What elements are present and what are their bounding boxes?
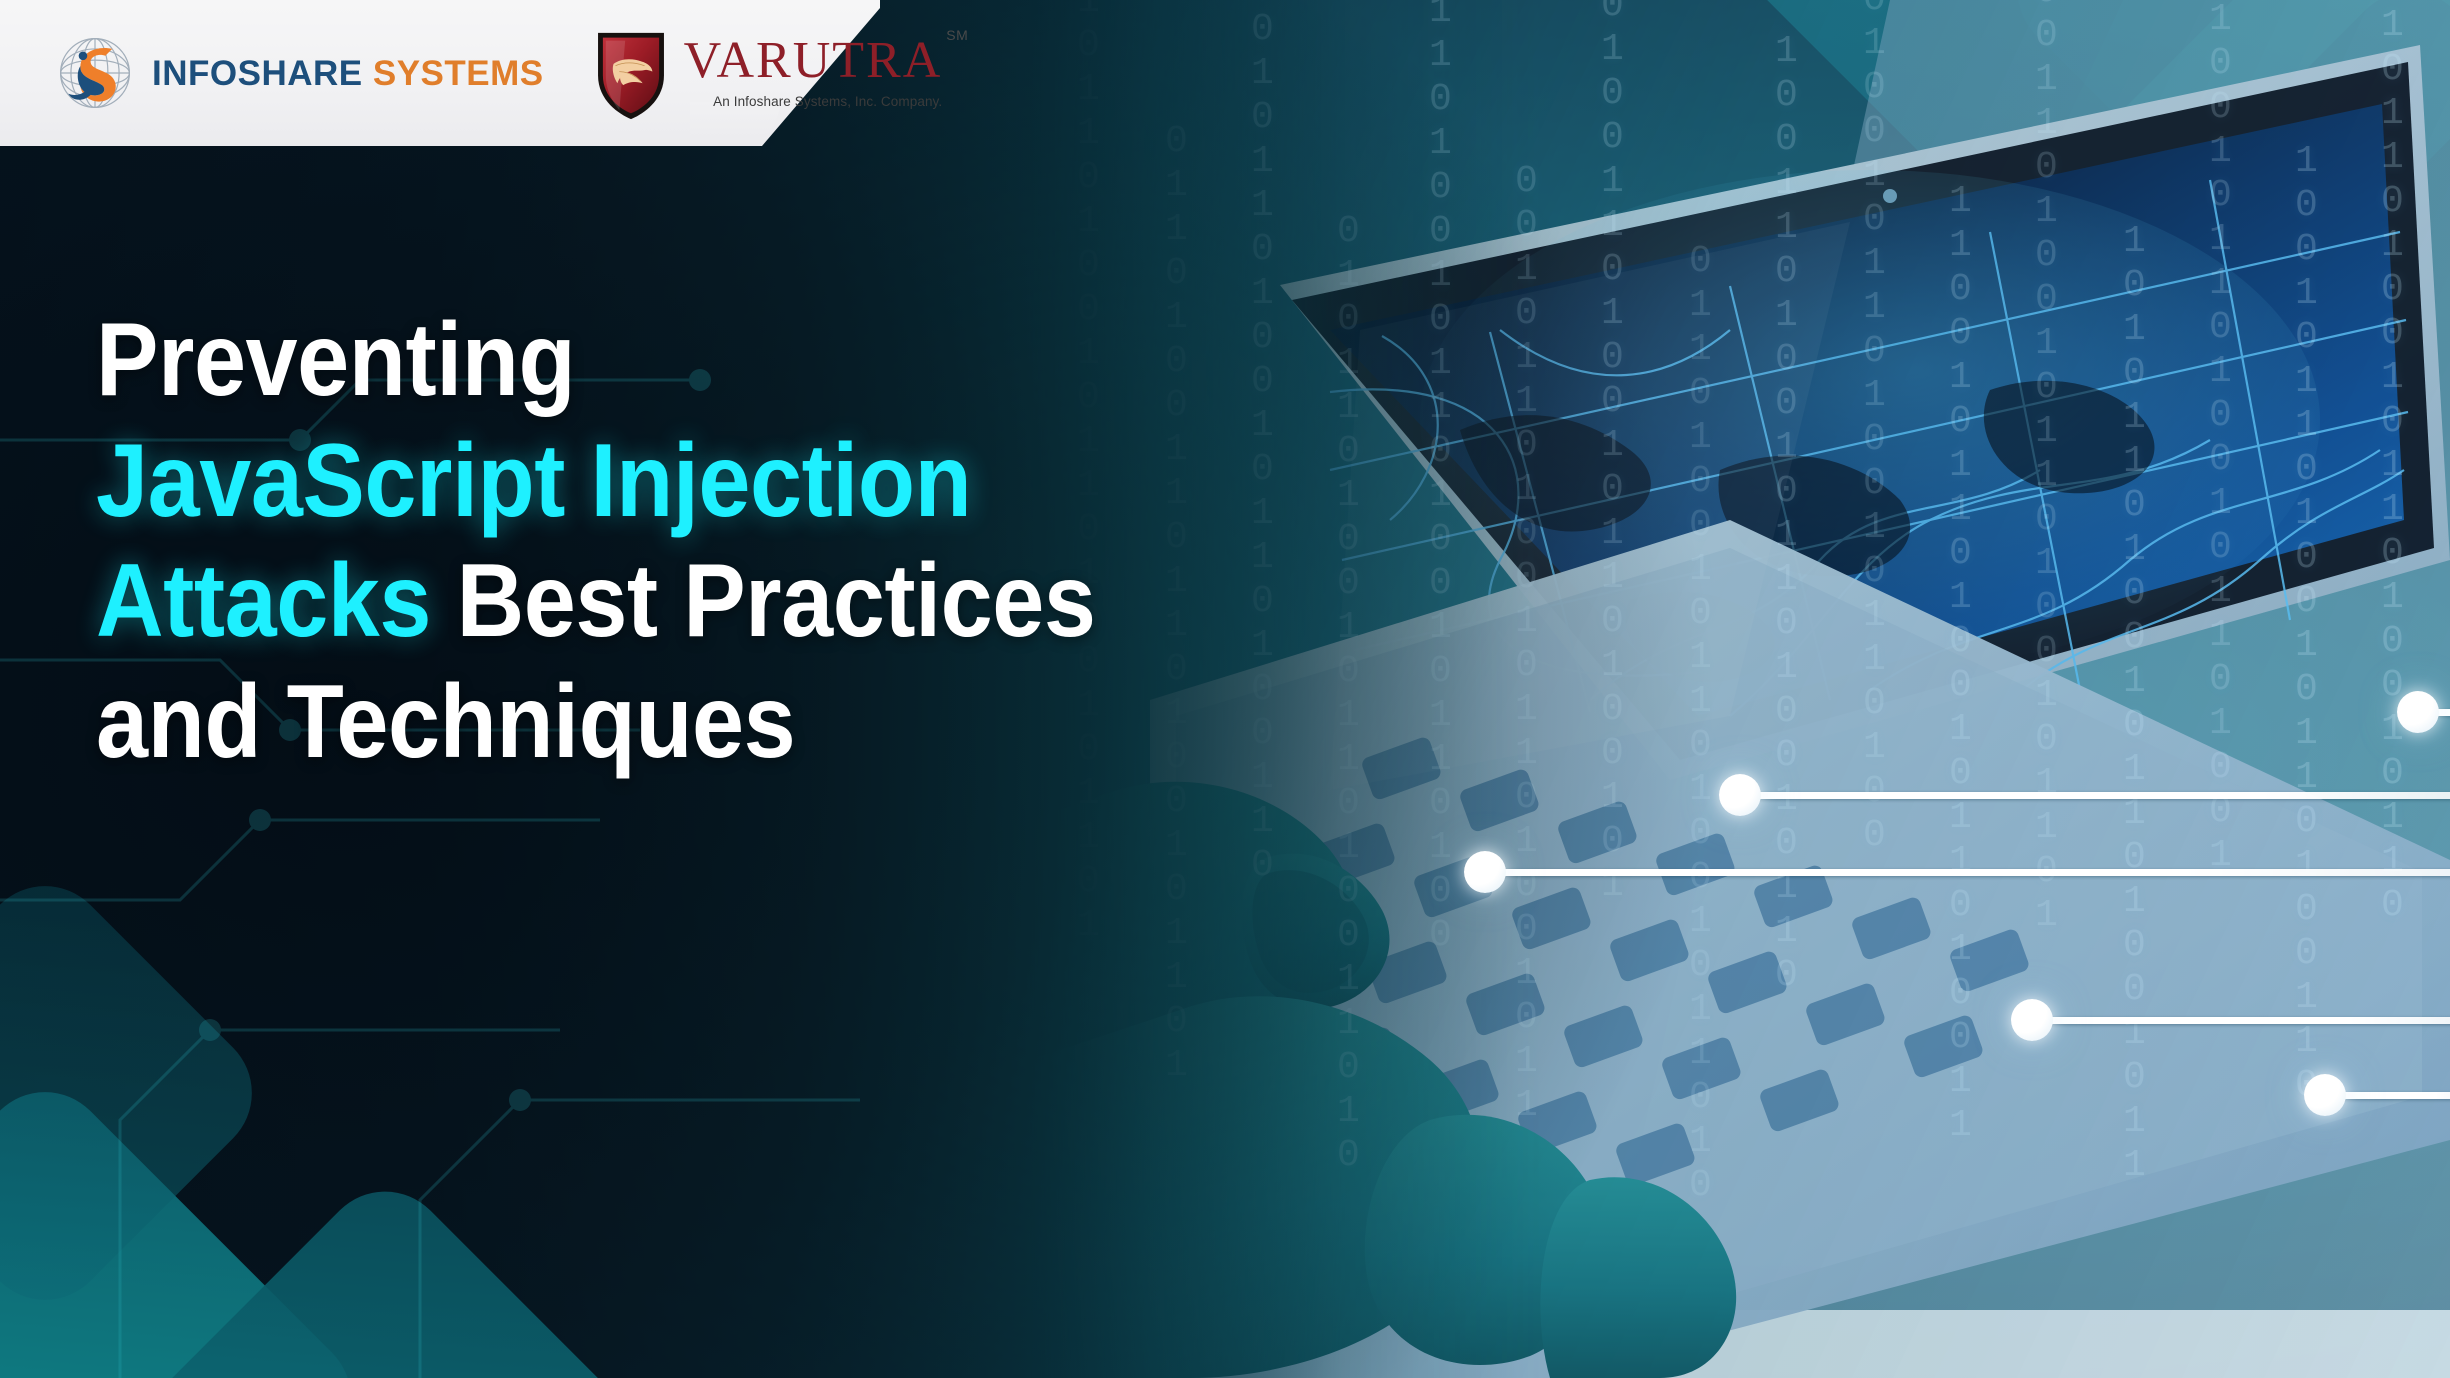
logo-row: INFOSHARE SYSTEMS — [0, 0, 880, 146]
connector-line-4 — [2334, 1092, 2450, 1099]
varutra-sm-mark: SM — [946, 27, 968, 43]
headline-line-2: JavaScript Injection — [96, 421, 1374, 542]
headline-line-4: and Techniques — [96, 662, 1374, 783]
infoshare-wordmark: INFOSHARE SYSTEMS — [152, 56, 544, 91]
infoshare-globe-s-icon — [52, 30, 138, 116]
infoshare-word-secondary: SYSTEMS — [373, 54, 544, 93]
blog-banner: 1011010010110100101101 01101001101101001… — [0, 0, 2450, 1378]
infoshare-word-primary: INFOSHARE — [152, 54, 363, 93]
varutra-text-lockup: VARUTRA SM An Infoshare Systems, Inc. Co… — [684, 25, 943, 109]
connector-dot-2 — [1464, 851, 1506, 893]
headline-line-1-text: Preventing — [96, 302, 575, 418]
connector-dot-5 — [2397, 691, 2439, 733]
headline-line-4-text: and Techniques — [96, 664, 795, 780]
connector-line-1 — [1749, 792, 2450, 799]
headline-line-3: Attacks Best Practices — [96, 541, 1374, 662]
varutra-logo[interactable]: VARUTRA SM An Infoshare Systems, Inc. Co… — [592, 25, 943, 122]
connector-dot-4 — [2304, 1074, 2346, 1116]
connector-line-2 — [1494, 869, 2450, 876]
connector-line-3 — [2041, 1017, 2450, 1024]
headline-line-1: Preventing — [96, 300, 1374, 421]
banner-headline: Preventing JavaScript Injection Attacks … — [96, 300, 1374, 783]
headline-line-3-accent: Attacks — [96, 543, 431, 659]
headline-line-3-text: Best Practices — [431, 543, 1095, 659]
connector-dot-1 — [1719, 774, 1761, 816]
headline-line-2-text: JavaScript Injection — [96, 423, 971, 539]
connector-dot-3 — [2011, 999, 2053, 1041]
infoshare-systems-logo[interactable]: INFOSHARE SYSTEMS — [52, 30, 544, 116]
varutra-wordmark: VARUTRA — [684, 35, 943, 87]
varutra-tagline: An Infoshare Systems, Inc. Company. — [684, 94, 943, 109]
varutra-shield-eagle-icon — [592, 27, 670, 122]
